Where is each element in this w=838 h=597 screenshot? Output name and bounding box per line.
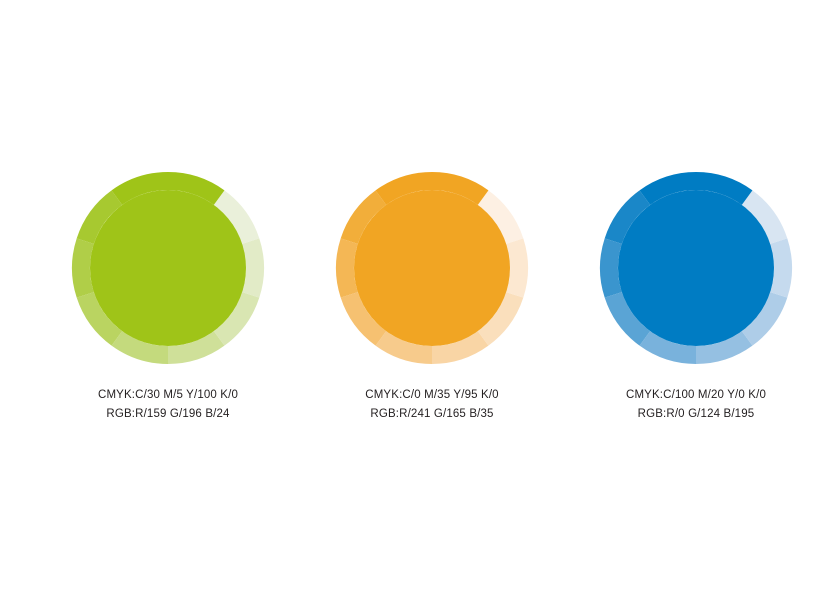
core-disc-orange xyxy=(354,190,510,346)
cmyk-label-green: CMYK:C/30 M/5 Y/100 K/0 xyxy=(38,386,298,405)
swatch-labels-blue: CMYK:C/100 M/20 Y/0 K/0RGB:R/0 G/124 B/1… xyxy=(566,386,826,424)
swatch-labels-green: CMYK:C/30 M/5 Y/100 K/0RGB:R/159 G/196 B… xyxy=(38,386,298,424)
color-wheel-green xyxy=(68,168,268,368)
cmyk-label-blue: CMYK:C/100 M/20 Y/0 K/0 xyxy=(566,386,826,405)
color-swatch-green: CMYK:C/30 M/5 Y/100 K/0RGB:R/159 G/196 B… xyxy=(38,168,298,424)
color-swatch-blue: CMYK:C/100 M/20 Y/0 K/0RGB:R/0 G/124 B/1… xyxy=(566,168,826,424)
core-disc-green xyxy=(90,190,246,346)
color-swatch-orange: CMYK:C/0 M/35 Y/95 K/0RGB:R/241 G/165 B/… xyxy=(302,168,562,424)
color-palette-board: CMYK:C/30 M/5 Y/100 K/0RGB:R/159 G/196 B… xyxy=(0,0,838,597)
cmyk-label-orange: CMYK:C/0 M/35 Y/95 K/0 xyxy=(302,386,562,405)
color-wheel-blue xyxy=(596,168,796,368)
core-disc-blue xyxy=(618,190,774,346)
color-wheel-orange xyxy=(332,168,532,368)
rgb-label-blue: RGB:R/0 G/124 B/195 xyxy=(566,405,826,424)
swatch-labels-orange: CMYK:C/0 M/35 Y/95 K/0RGB:R/241 G/165 B/… xyxy=(302,386,562,424)
rgb-label-orange: RGB:R/241 G/165 B/35 xyxy=(302,405,562,424)
rgb-label-green: RGB:R/159 G/196 B/24 xyxy=(38,405,298,424)
